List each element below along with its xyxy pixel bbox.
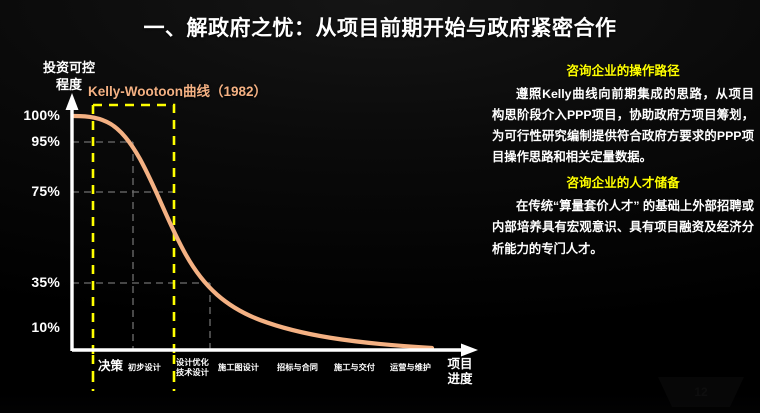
section-heading-talent-reserve: 咨询企业的人才储备 bbox=[492, 174, 754, 193]
page-number-watermark: 12 bbox=[658, 377, 744, 411]
x-tick-label-design-optimization-line2: 技术设计 bbox=[176, 368, 209, 378]
x-tick-label-bidding-contract: 招标与合同 bbox=[277, 363, 318, 373]
x-axis-title-line2: 进度 bbox=[440, 372, 480, 387]
kelly-wootoon-chart: 投资可控 程度 Kelly-Wootoon曲线（1982） bbox=[0, 55, 490, 405]
x-tick-label-preliminary-design: 初步设计 bbox=[128, 363, 161, 373]
y-tick-label-35: 35% bbox=[8, 274, 60, 290]
y-tick-label-75: 75% bbox=[8, 183, 60, 199]
x-tick-label-design-optimization-line1: 设计优化 bbox=[176, 358, 209, 368]
page-number: 12 bbox=[658, 385, 744, 399]
chart-graphics bbox=[0, 55, 490, 405]
x-tick-label-construction-drawing: 施工图设计 bbox=[218, 363, 259, 373]
section-body-talent-reserve: 在传统“算量套价人才” 的基础上外部招聘或内部培养具有宏观意识、具有项目融资及经… bbox=[492, 196, 754, 259]
y-tick-label-100: 100% bbox=[8, 107, 60, 123]
x-tick-label-operation-maintenance: 运营与维护 bbox=[390, 363, 431, 373]
section-heading-operation-path: 咨询企业的操作路径 bbox=[492, 62, 754, 81]
x-axis-title-line1: 项目 bbox=[440, 357, 480, 372]
gridlines-vertical bbox=[133, 142, 210, 350]
x-axis-title: 项目 进度 bbox=[440, 357, 480, 387]
bottom-band bbox=[0, 391, 760, 413]
slide: 一、解政府之忧：从项目前期开始与政府紧密合作 投资可控 程度 Kelly-Woo… bbox=[0, 0, 760, 413]
x-tick-label-design-optimization: 设计优化 技术设计 bbox=[176, 358, 209, 377]
text-panel: 咨询企业的操作路径 遵照Kelly曲线向前期集成的思路，从项目构思阶段介入PPP… bbox=[492, 62, 754, 265]
kelly-wootoon-curve bbox=[74, 116, 432, 348]
y-axis bbox=[66, 93, 79, 351]
x-tick-label-construction-delivery: 施工与交付 bbox=[334, 363, 375, 373]
page-title: 一、解政府之忧：从项目前期开始与政府紧密合作 bbox=[0, 12, 760, 42]
y-tick-label-10: 10% bbox=[8, 319, 60, 335]
y-tick-label-95: 95% bbox=[8, 133, 60, 149]
x-tick-label-decision: 决策 bbox=[98, 359, 123, 374]
section-body-operation-path: 遵照Kelly曲线向前期集成的思路，从项目构思阶段介入PPP项目，协助政府方项目… bbox=[492, 84, 754, 169]
